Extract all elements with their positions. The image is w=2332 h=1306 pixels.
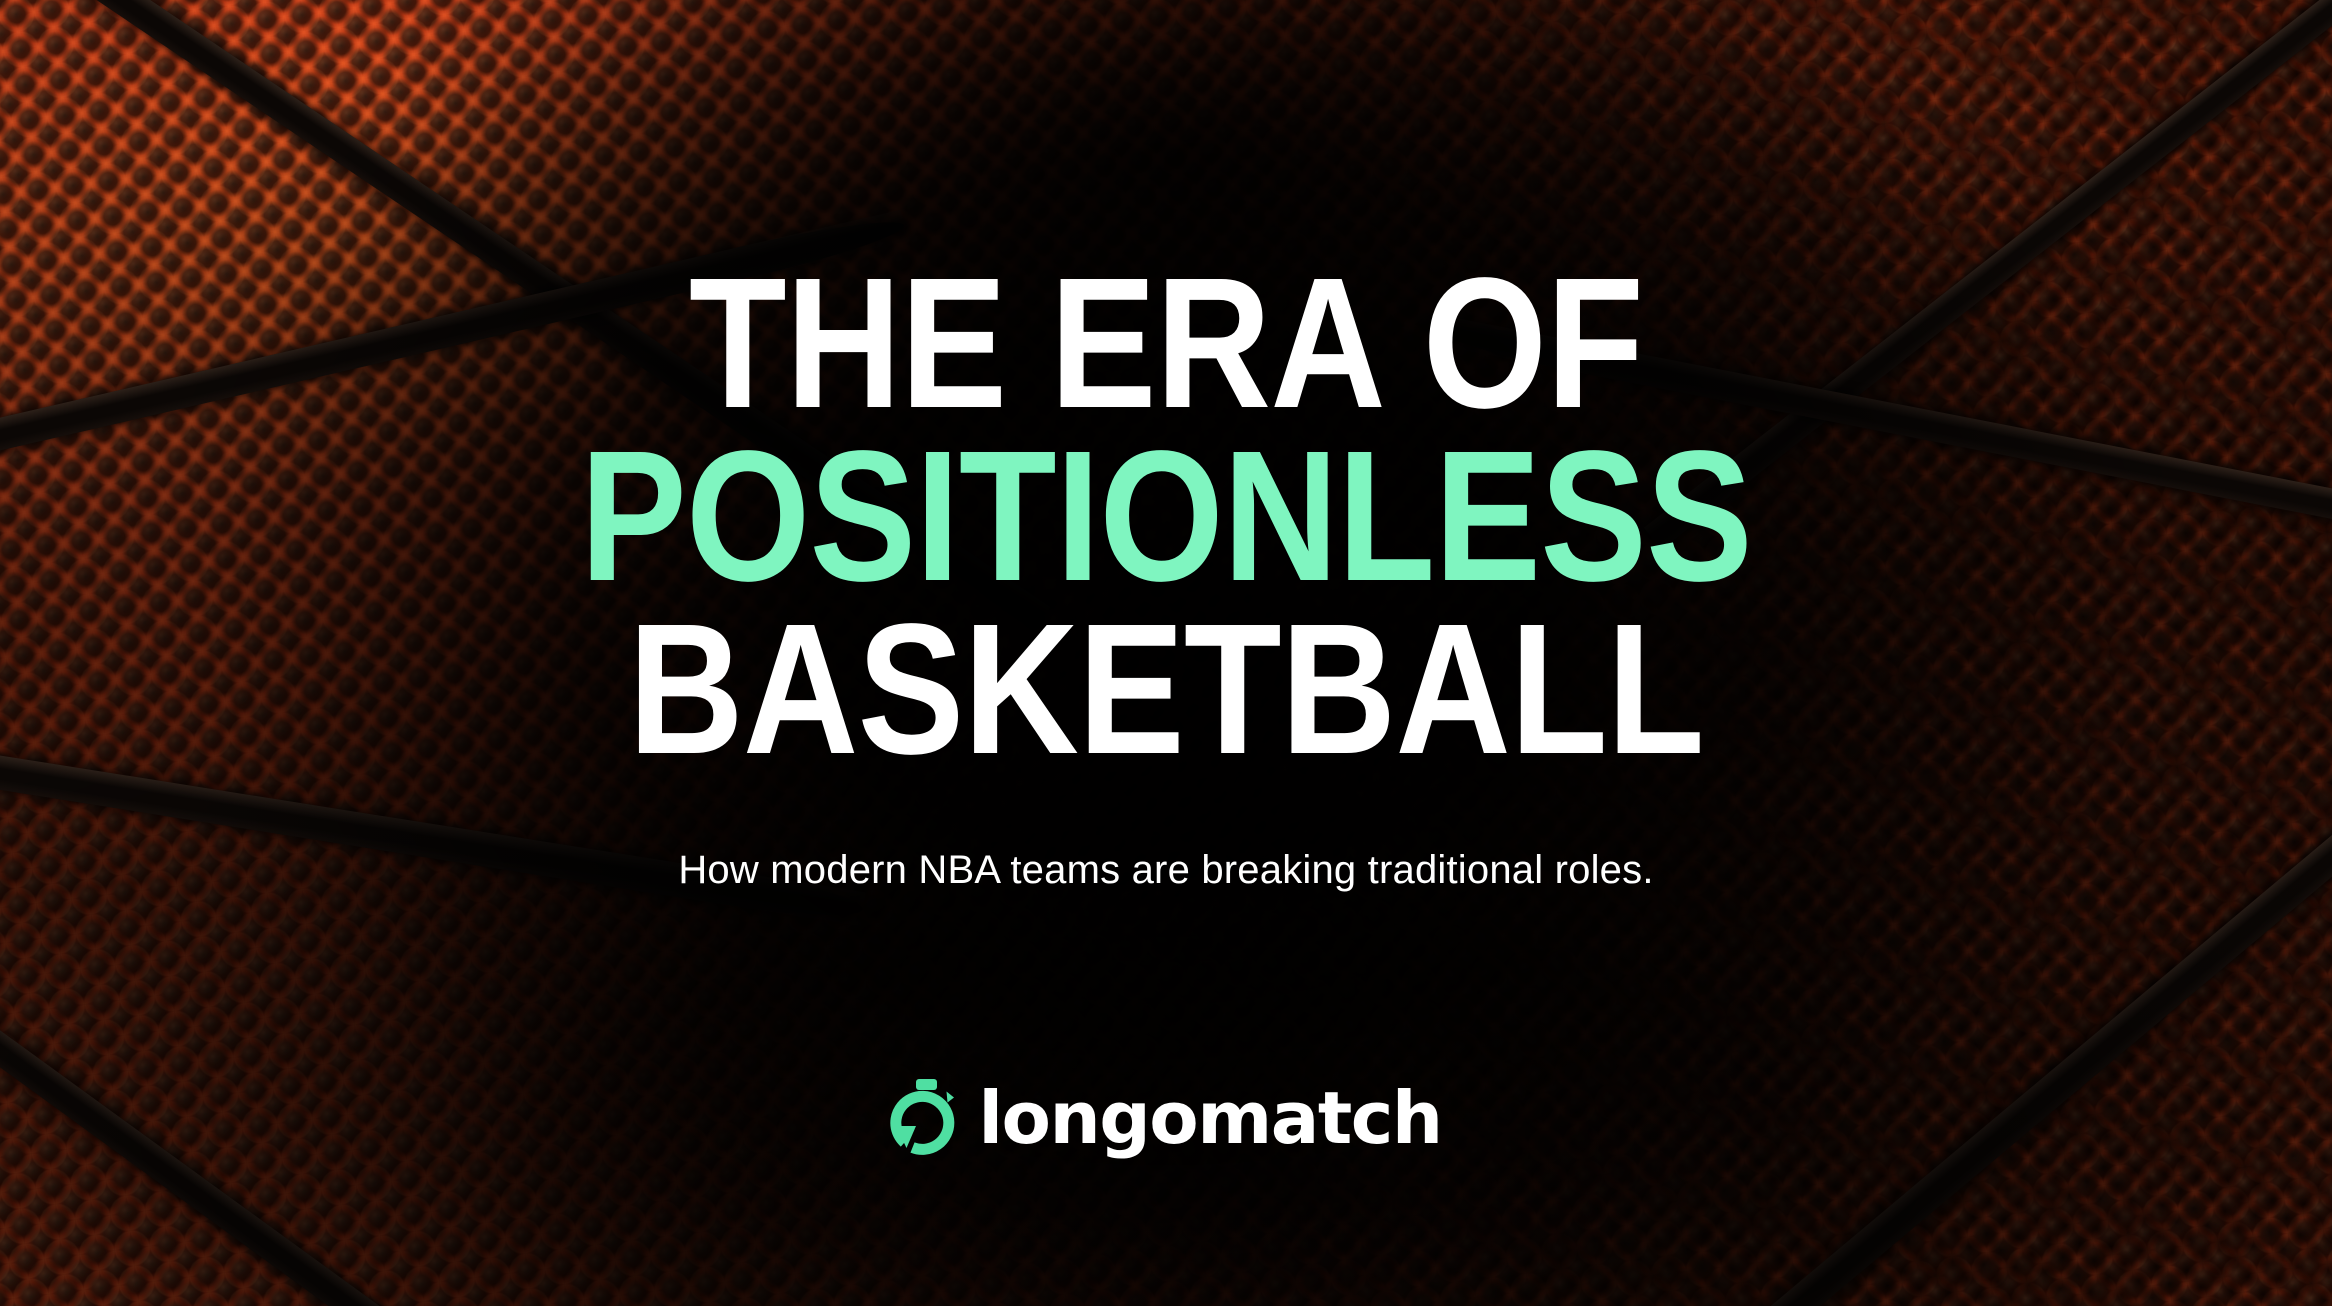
logo-wordmark: longomatch — [978, 1082, 1441, 1154]
headline-line-1: THE ERA OF — [163, 258, 2169, 431]
stopwatch-icon — [890, 1078, 964, 1158]
headline-line-2-accent: POSITIONLESS — [163, 431, 2169, 604]
brand-logo: longomatch — [0, 1078, 2332, 1158]
subtitle: How modern NBA teams are breaking tradit… — [0, 848, 2332, 893]
slide-content: THE ERA OF POSITIONLESS BASKETBALL How m… — [0, 0, 2332, 1306]
headline-line-3: BASKETBALL — [163, 604, 2169, 777]
title-slide: THE ERA OF POSITIONLESS BASKETBALL How m… — [0, 0, 2332, 1306]
page-title: THE ERA OF POSITIONLESS BASKETBALL — [163, 258, 2169, 777]
